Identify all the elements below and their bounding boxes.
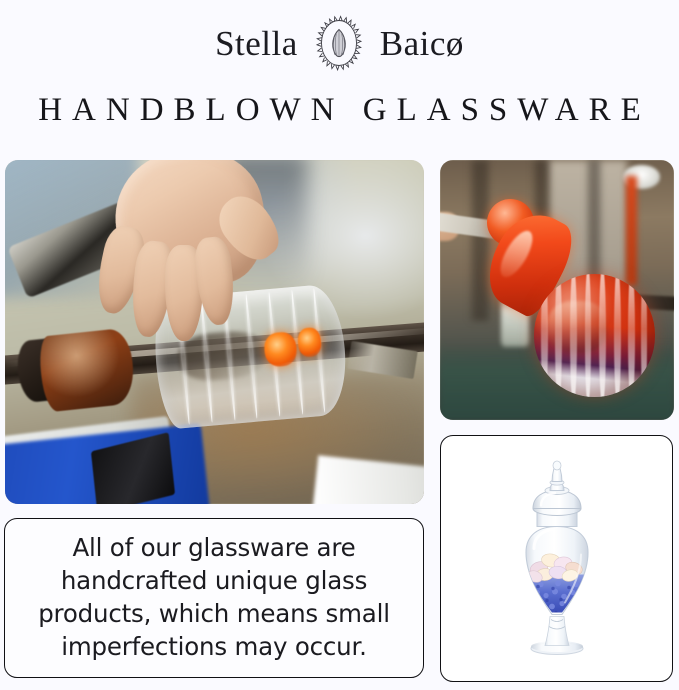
disclaimer-caption-box: All of our glassware are handcrafted uni… (4, 518, 424, 678)
background-post (468, 160, 489, 321)
sphere-spiral-rib (614, 274, 621, 396)
sphere-spiral-rib (599, 274, 606, 396)
sphere-spiral-rib (641, 274, 648, 396)
page-title: HANDBLOWN GLASSWARE (0, 86, 679, 131)
disclaimer-text: All of our glassware are handcrafted uni… (5, 532, 423, 663)
photo-molten-red-sphere (440, 160, 674, 420)
image-collage: All of our glassware are handcrafted uni… (0, 158, 679, 690)
photo-apothecary-jar (440, 435, 673, 682)
scalloped-oval-shell-emblem-icon (312, 12, 366, 74)
photo-glassblower-shaping-vessel (5, 160, 424, 504)
brand-name-left: Stella (215, 26, 298, 61)
sphere-spiral-rib (570, 274, 577, 396)
brand-name-right: Baicø (380, 26, 464, 61)
sphere-spiral-rib (628, 274, 635, 396)
sphere-spiral-rib (585, 274, 592, 396)
glassblower-hand (76, 160, 277, 349)
molten-glow-spot (297, 326, 322, 357)
jar-illustration (505, 456, 609, 661)
sphere-spiral-rib (555, 274, 562, 396)
molten-glass-sphere (534, 274, 656, 396)
sphere-spiral-rib (541, 274, 548, 396)
background-red-pipe (626, 176, 637, 285)
brand-header: Stella (0, 0, 679, 86)
